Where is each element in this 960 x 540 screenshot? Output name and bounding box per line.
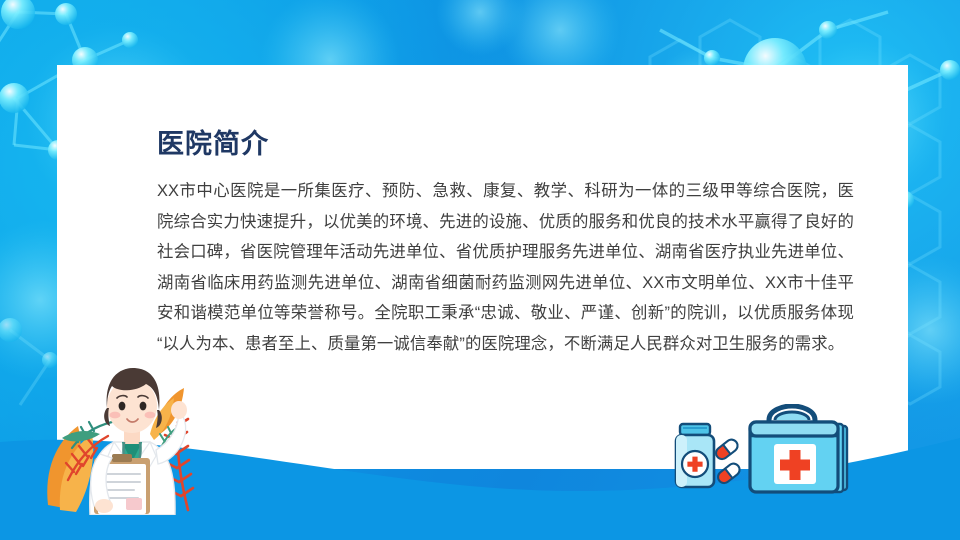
hospital-introduction-paragraph: XX市中心医院是一所集医疗、预防、急救、康复、教学、科研为一体的三级甲等综合医院…	[157, 176, 854, 359]
capsule-icon	[714, 437, 742, 485]
page-title: 医院简介	[157, 128, 857, 160]
doctor-illustration	[38, 330, 223, 515]
pill-bottle-icon	[676, 424, 714, 487]
slide-root: 医院简介 XX市中心医院是一所集医疗、预防、急救、康复、教学、科研为一体的三级甲…	[0, 0, 960, 540]
doctor-figure	[90, 368, 187, 515]
medical-supplies-illustration	[656, 404, 866, 514]
text-content-block: 医院简介 XX市中心医院是一所集医疗、预防、急救、康复、教学、科研为一体的三级甲…	[157, 128, 857, 359]
first-aid-kit-icon	[750, 406, 847, 492]
